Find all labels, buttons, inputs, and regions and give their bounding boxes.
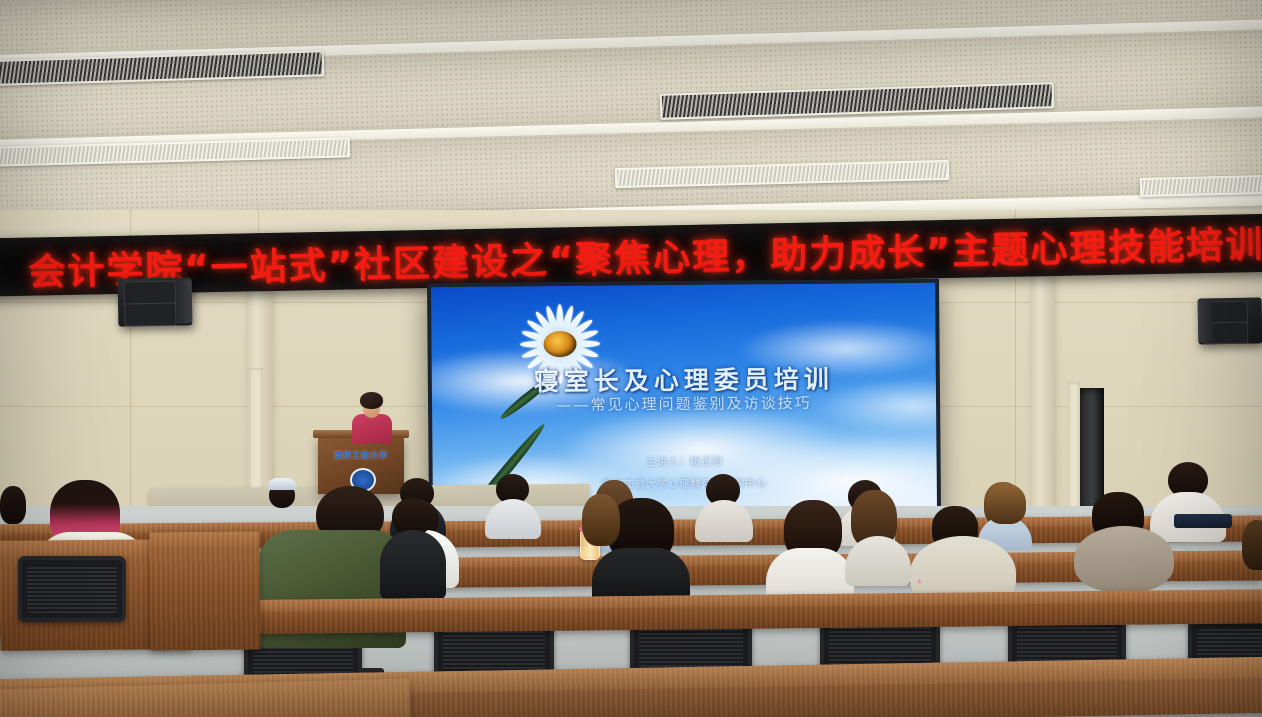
air-vent bbox=[1140, 174, 1262, 197]
navy-band bbox=[1174, 514, 1232, 528]
right-wall-speaker bbox=[1198, 297, 1262, 344]
chair[interactable] bbox=[18, 556, 126, 630]
desk-side-panel-mid bbox=[149, 532, 260, 651]
slide-subtitle: ——常见心理问题鉴别及访谈技巧 bbox=[432, 391, 936, 416]
white-cap bbox=[267, 478, 297, 490]
doorway-right[interactable] bbox=[1078, 388, 1104, 513]
podium-logo-text: 重庆工商大学 bbox=[318, 450, 404, 461]
podium: 重庆工商大学 bbox=[318, 436, 404, 494]
presenter bbox=[352, 392, 392, 442]
ceiling bbox=[0, 0, 1262, 236]
left-wall-speaker bbox=[118, 277, 193, 326]
lecture-hall-photo: 会计学院“一站式”社区建设之“聚焦心理，助力成长”主题心理技能培训 bbox=[0, 0, 1262, 717]
door-frame-right bbox=[1068, 382, 1080, 517]
wall-pilaster-right bbox=[1030, 240, 1054, 540]
